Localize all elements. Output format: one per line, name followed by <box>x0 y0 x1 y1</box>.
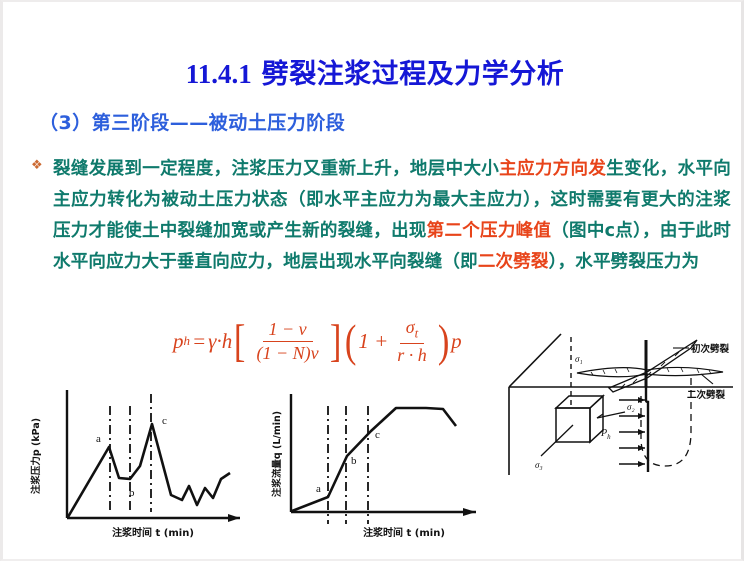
formula-one-plus: 1 + <box>358 329 388 354</box>
fig2-y-axis-label: 注浆流量q (L/min) <box>271 411 283 497</box>
page-title: 11.4.1 劈裂注浆过程及力学分析 <box>3 52 744 91</box>
fig3-secondary-leader <box>701 374 713 384</box>
body-seg-1-highlight: 主应力方向发 <box>499 159 606 179</box>
fig3-secondary-fracture-label: 二次劈裂 <box>687 389 726 401</box>
fig1-svg: a b c 注浆压力p (kPa) 注浆时间 t (min) <box>25 384 267 544</box>
fig1-data-line <box>68 424 230 517</box>
body-seg-5-highlight: 二次劈裂 <box>478 252 549 272</box>
formula-right-paren: ) <box>438 322 449 360</box>
body-text: 裂缝发展到一定程度，注浆压力又重新上升，地层中大小主应力方向发生变化，水平向主应… <box>53 154 731 278</box>
fig3-sigma1-label: σ₁ <box>575 354 583 364</box>
section-subtitle: （3）第三阶段——被动土压力阶段 <box>39 108 345 135</box>
fig2-point-label-b: b <box>351 455 357 467</box>
fig2-point-label-a: a <box>316 483 321 495</box>
formula-h: h <box>222 329 233 354</box>
formula-lhs: p <box>173 329 184 354</box>
formula-fraction-2: σt r · h <box>391 317 433 366</box>
slide-canvas: 11.4.1 劈裂注浆过程及力学分析 （3）第三阶段——被动土压力阶段 ❖ 裂缝… <box>0 0 744 561</box>
formula-sigma-sub: t <box>415 326 419 341</box>
formula-left-paren: ( <box>345 322 356 360</box>
formula-frac1-denominator: (1 − N)ν <box>251 342 325 364</box>
formula-frac1-numerator: 1 − ν <box>263 319 313 342</box>
formula-trailing-p: p <box>451 329 462 354</box>
diamond-bullet-icon: ❖ <box>31 154 53 172</box>
bullet-row: ❖ 裂缝发展到一定程度，注浆压力又重新上升，地层中大小主应力方向发生变化，水平向… <box>31 154 731 278</box>
body-seg-3-highlight: 第二个压力峰值 <box>427 221 552 241</box>
formula-fraction-1: 1 − ν (1 − N)ν <box>251 319 325 364</box>
fig1-x-axis-label: 注浆时间 t (min) <box>112 526 194 539</box>
fig3-sigma3-label: σ₃ <box>535 460 543 470</box>
formula-frac2-denominator: r · h <box>391 344 433 366</box>
fig1-x-axis-arrow-icon <box>228 514 240 522</box>
fig3-ph-label: Ph <box>600 428 611 441</box>
body-seg-6: ），水平劈裂压力为 <box>549 252 700 272</box>
body-paragraph-block: ❖ 裂缝发展到一定程度，注浆压力又重新上升，地层中大小主应力方向发生变化，水平向… <box>31 154 731 278</box>
formula-frac2-numerator: σt <box>400 317 425 344</box>
title-number: 11.4.1 <box>186 59 252 89</box>
fig3-sigma2-label: σ₂ <box>627 402 635 412</box>
title-text: 劈裂注浆过程及力学分析 <box>262 59 565 90</box>
figure-injection-pressure-chart: a b c 注浆压力p (kPa) 注浆时间 t (min) <box>25 384 267 544</box>
fig1-point-label-a: a <box>96 433 101 445</box>
fig1-point-label-c: c <box>162 415 167 427</box>
formula-sigma: σ <box>406 317 415 337</box>
formula-right-bracket: ] <box>330 322 341 360</box>
fig2-x-axis-label: 注浆时间 t (min) <box>363 526 445 539</box>
formula-gamma: γ <box>208 329 216 354</box>
fig3-svg: σ₁ σ₂ σ₃ <box>501 320 744 544</box>
fig2-svg: a b c 注浆流量q (L/min) 注浆时间 t (min) <box>271 384 499 544</box>
fig2-point-label-c: c <box>375 429 380 441</box>
fig3-perspective-edge <box>509 334 561 387</box>
fig1-point-label-b: b <box>129 487 135 499</box>
formula-left-bracket: [ <box>234 322 245 360</box>
body-seg-0: 裂缝发展到一定程度，注浆压力又重新上升，地层中大小 <box>53 159 499 179</box>
fig1-y-axis-label: 注浆压力p (kPa) <box>30 418 42 494</box>
figure-stress-fracture-diagram: σ₁ σ₂ σ₃ <box>501 320 744 544</box>
fig3-primary-fracture-label: 初次劈裂 <box>691 343 730 355</box>
fig3-sigma3-arrow <box>541 425 573 456</box>
fig2-x-axis-arrow-icon <box>463 508 476 516</box>
fig2-data-line <box>292 408 456 511</box>
formula-equals: = <box>190 329 208 354</box>
figure-injection-flow-chart: a b c 注浆流量q (L/min) 注浆时间 t (min) <box>271 384 499 544</box>
horizontal-fracturing-pressure-formula: ph = γ · h [ 1 − ν (1 − N)ν ] ( 1 + σt r… <box>173 317 462 366</box>
